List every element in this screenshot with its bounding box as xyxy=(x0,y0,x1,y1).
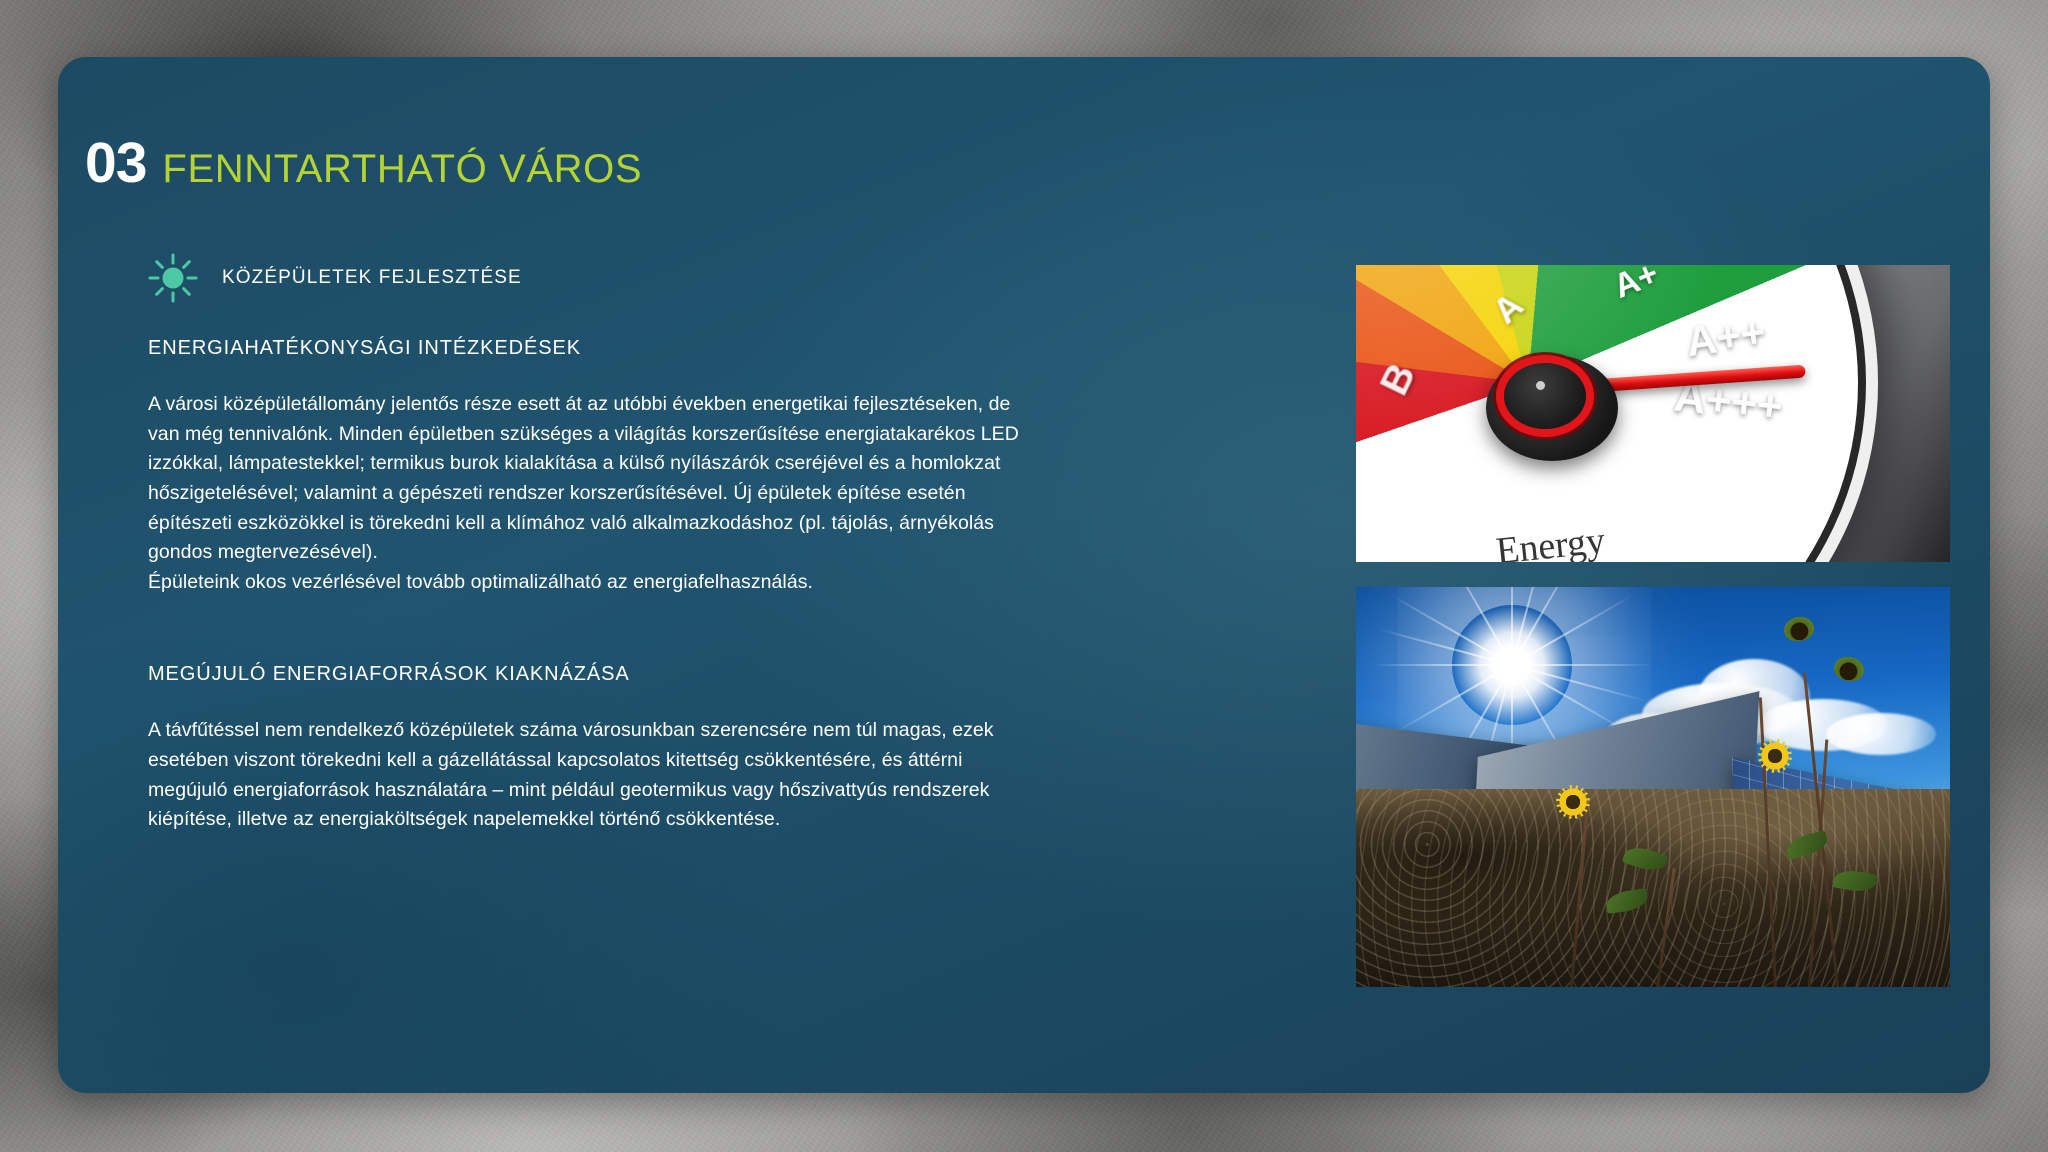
cloud xyxy=(1826,713,1936,755)
energy-efficiency-gauge-image: B A A+ A++ A+++ Energy xyxy=(1356,265,1950,562)
gauge-canvas: B A A+ A++ A+++ Energy xyxy=(1356,265,1950,562)
gauge-hub-inner xyxy=(1504,363,1586,429)
section-label-row: KÖZÉPÜLETEK FEJLESZTÉSE xyxy=(148,253,522,303)
body-column: ENERGIAHATÉKONYSÁGI INTÉZKEDÉSEK A város… xyxy=(148,337,1028,835)
body-paragraph: A távfűtéssel nem rendelkező középületek… xyxy=(148,716,1028,835)
slide-number: 03 xyxy=(85,135,146,192)
solar-canvas xyxy=(1356,587,1950,987)
gauge-hub-dot xyxy=(1536,381,1545,390)
slide-root: 03 FENNTARTHATÓ VÁROS KÖZÉPÜLETEK FEJLES… xyxy=(0,0,2048,1152)
section-block-energy-efficiency: ENERGIAHATÉKONYSÁGI INTÉZKEDÉSEK A város… xyxy=(148,337,1028,597)
slide-title-text: FENNTARTHATÓ VÁROS xyxy=(162,149,642,189)
solar-panel-field-image xyxy=(1356,587,1950,987)
section-heading: MEGÚJULÓ ENERGIAFORRÁSOK KIAKNÁZÁSA xyxy=(148,663,1028,686)
body-paragraph: A városi középületállomány jelentős rész… xyxy=(148,390,1028,568)
content-card: 03 FENNTARTHATÓ VÁROS KÖZÉPÜLETEK FEJLES… xyxy=(58,57,1990,1093)
body-paragraph: Épületeink okos vezérlésével tovább opti… xyxy=(148,568,1028,598)
sun-disc xyxy=(1452,605,1572,725)
section-heading: ENERGIAHATÉKONYSÁGI INTÉZKEDÉSEK xyxy=(148,337,1028,360)
section-block-renewables: MEGÚJULÓ ENERGIAFORRÁSOK KIAKNÁZÁSA A tá… xyxy=(148,663,1028,835)
section-label-text: KÖZÉPÜLETEK FEJLESZTÉSE xyxy=(222,267,522,289)
sun-icon xyxy=(148,253,198,303)
slide-title: 03 FENNTARTHATÓ VÁROS xyxy=(85,135,642,192)
